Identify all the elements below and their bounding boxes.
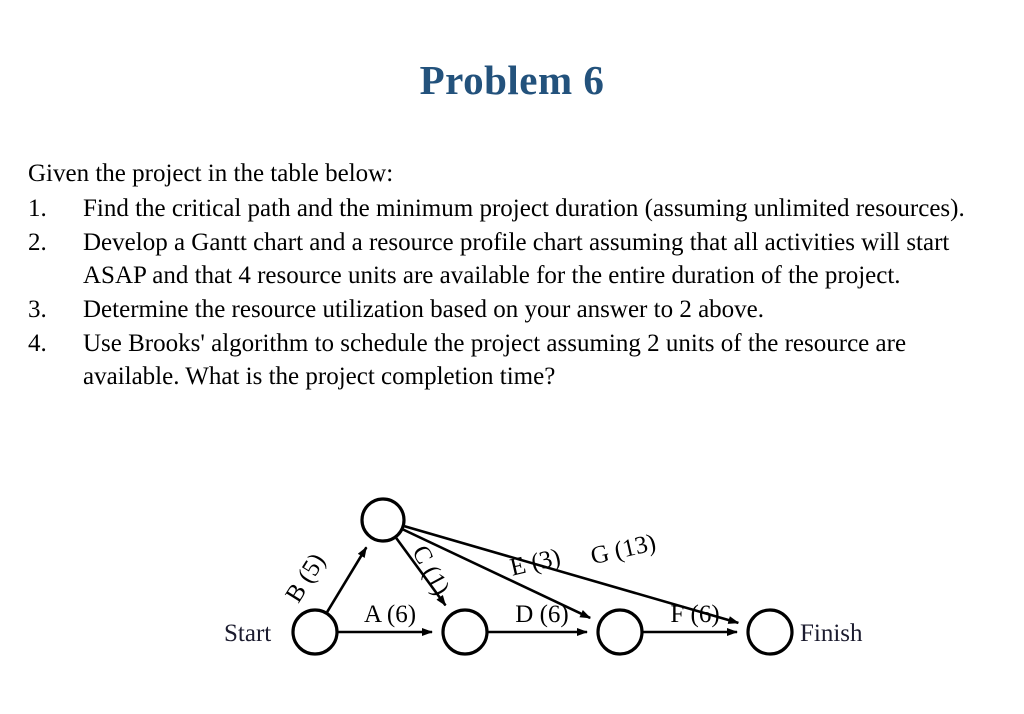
edge-label-d: D (6) xyxy=(515,601,568,628)
project-network-diagram: A (6)B (5)C (1)D (6)E (3)F (6)G (13) Sta… xyxy=(0,482,1024,682)
lead-sentence: Given the project in the table below: xyxy=(28,157,978,190)
page-title: Problem 6 xyxy=(0,56,1024,104)
edge-label-e: E (3) xyxy=(508,544,563,582)
task-text-3: Determine the resource utilization based… xyxy=(83,293,978,326)
task-text-1: Find the critical path and the minimum p… xyxy=(83,192,978,225)
start-label: Start xyxy=(224,620,271,647)
edge-label-b: B (5) xyxy=(280,549,330,607)
task-number-3: 3. xyxy=(28,293,68,326)
task-item-3: 3. Determine the resource utilization ba… xyxy=(28,293,978,326)
task-item-1: 1. Find the critical path and the minimu… xyxy=(28,192,978,225)
edge-b xyxy=(327,547,366,612)
task-item-2: 2. Develop a Gantt chart and a resource … xyxy=(28,226,978,292)
network-node-n5 xyxy=(748,610,792,654)
task-list: 1. Find the critical path and the minimu… xyxy=(28,192,978,393)
network-svg: A (6)B (5)C (1)D (6)E (3)F (6)G (13) Sta… xyxy=(0,482,1024,682)
network-node-n1 xyxy=(293,610,337,654)
task-number-2: 2. xyxy=(28,226,68,259)
network-node-n4 xyxy=(598,610,642,654)
finish-label: Finish xyxy=(800,620,863,647)
task-text-4: Use Brooks' algorithm to schedule the pr… xyxy=(83,327,978,393)
edge-label-g: G (13) xyxy=(588,529,658,570)
task-item-4: 4. Use Brooks' algorithm to schedule the… xyxy=(28,327,978,393)
network-node-n3 xyxy=(443,610,487,654)
task-text-2: Develop a Gantt chart and a resource pro… xyxy=(83,226,978,292)
network-node-n2 xyxy=(362,499,404,541)
task-number-4: 4. xyxy=(28,327,68,360)
edge-label-f: F (6) xyxy=(670,601,719,628)
edge-label-a: A (6) xyxy=(364,601,416,628)
task-number-1: 1. xyxy=(28,192,68,225)
problem-statement: Given the project in the table below: 1.… xyxy=(28,157,978,394)
